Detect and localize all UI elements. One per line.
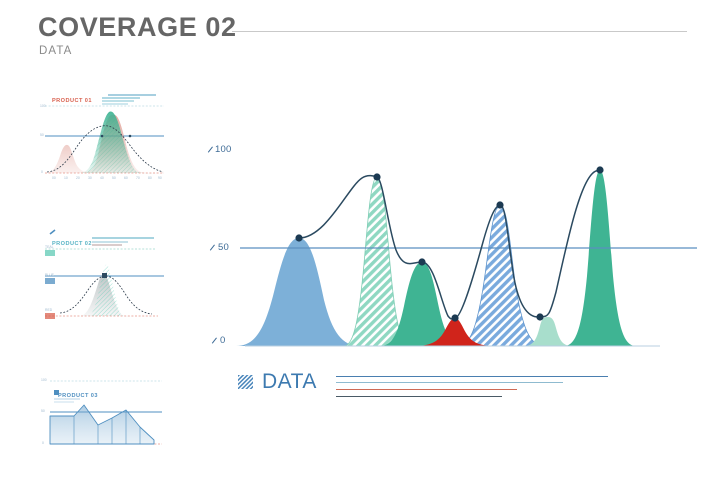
main-chart[interactable]: 100 50 0 (196, 132, 701, 357)
page-subtitle: DATA (39, 45, 72, 57)
thumb1-xtick: 30 (88, 176, 92, 180)
thumbnail-product-03-label: PRODUCT 03 (58, 393, 98, 399)
thumb1-xtick: 00 (52, 176, 56, 180)
peak-2-area (344, 177, 410, 346)
thumb2-legend-teal: TEAL (45, 245, 53, 249)
thumb1-area-teal-hatch (80, 112, 154, 174)
thumb1-xtick: 10 (64, 176, 68, 180)
thumb2-legend-chip-teal (45, 250, 55, 256)
thumb1-xtick: 70 (136, 176, 140, 180)
trend-line (299, 170, 600, 319)
thumb2-legend-blue: BLUE (45, 273, 54, 277)
thumb3-ytick-0: 0 (42, 441, 44, 445)
page-title: COVERAGE 02 (38, 12, 237, 43)
thumb2-peak-marker (102, 273, 107, 278)
thumb1-xtick: 20 (76, 176, 80, 180)
footer-rule-2 (336, 382, 563, 383)
footer-rule-1 (336, 376, 608, 377)
thumb3-ytick-50: 50 (41, 409, 45, 413)
peak-marker-3[interactable] (418, 258, 425, 265)
main-chart-svg (196, 132, 701, 357)
page-header: COVERAGE 02 DATA (0, 0, 707, 72)
thumb1-ytick-50: 50 (40, 133, 44, 137)
footer-label: DATA (262, 370, 317, 394)
peak-marker-6[interactable] (536, 313, 543, 320)
thumbnail-product-02[interactable]: PRODUCT 02 TEAL BLUE RED (36, 228, 168, 328)
thumb1-marker (129, 135, 132, 138)
axis-label-50: 50 (218, 242, 229, 253)
thumbnail-product-03-chart (36, 372, 168, 454)
thumb2-legend-red: RED (45, 308, 52, 312)
peak-marker-2[interactable] (373, 173, 380, 180)
peak-marker-1[interactable] (295, 234, 302, 241)
peak-marker-5[interactable] (496, 201, 503, 208)
title-divider (232, 31, 687, 32)
thumb1-xtick: 40 (100, 176, 104, 180)
thumbnail-product-03[interactable]: PRODUCT 03 100 50 0 (36, 372, 168, 454)
thumb1-xtick: 50 (112, 176, 116, 180)
axis-label-0: 0 (220, 335, 225, 346)
peak-marker-4[interactable] (451, 314, 458, 321)
thumbnail-product-01-label: PRODUCT 01 (52, 98, 92, 104)
hatched-square-icon (238, 375, 254, 390)
peak-5-area (458, 205, 544, 346)
thumb1-ytick-0: 0 (41, 170, 43, 174)
axis-label-100: 100 (215, 144, 231, 155)
footer-rule-3 (336, 389, 517, 390)
peak-7-area (564, 170, 636, 346)
footer-bar: DATA (238, 368, 658, 404)
thumb3-area-blue (50, 405, 154, 444)
thumb1-marker (101, 135, 104, 138)
thumb3-ytick-100: 100 (41, 378, 47, 382)
thumb1-xtick: 80 (148, 176, 152, 180)
thumb1-ytick-100: 100 (40, 104, 46, 108)
peak-marker-7[interactable] (596, 166, 603, 173)
thumbnail-product-02-label: PRODUCT 02 (52, 241, 92, 247)
thumbnail-product-01[interactable]: PRODUCT 01 100 50 0 00 10 20 30 40 50 60… (36, 88, 168, 184)
thumb2-legend-chip-blue (45, 278, 55, 284)
footer-rule-4 (336, 396, 502, 397)
thumb1-xtick: 60 (124, 176, 128, 180)
thumb2-accent-mark (50, 230, 55, 234)
peak-1-area (236, 238, 360, 346)
thumb1-xtick: 90 (158, 176, 162, 180)
